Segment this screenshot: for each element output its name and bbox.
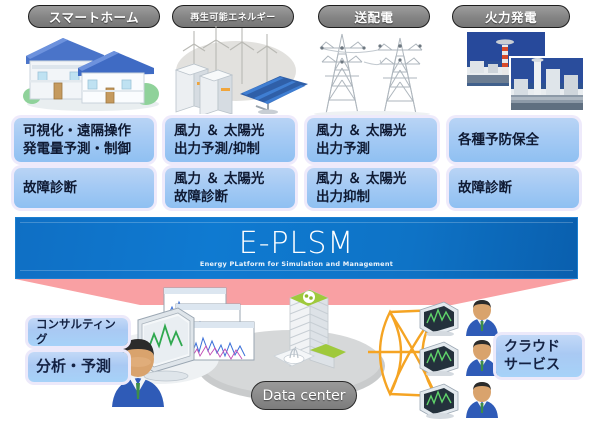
function-line: 故障診断 — [23, 179, 145, 197]
function-box-smart-home-2[interactable]: 故障診断 — [14, 168, 154, 208]
label-line: クラウド — [504, 338, 574, 356]
function-box-renewable-1[interactable]: 風力 ＆ 太陽光 出力予測/抑制 — [165, 118, 295, 162]
house-illustration-icon — [18, 28, 168, 113]
data-center-building-icon — [268, 280, 350, 380]
function-box-smart-home-1[interactable]: 可視化・遠隔操作 発電量予測・制御 — [14, 118, 154, 162]
label-cloud-service[interactable]: クラウド サービス — [496, 335, 582, 377]
category-pill-label: 再生可能エネルギー — [190, 10, 276, 23]
transmission-tower-illustration-icon — [312, 28, 442, 116]
category-pill-transmission[interactable]: 送配電 — [318, 5, 430, 28]
thermal-plant-photo-icon — [466, 31, 586, 113]
client-terminal-icon — [418, 336, 508, 376]
function-box-thermal-2[interactable]: 故障診断 — [449, 168, 579, 208]
eplsm-subtitle: Energy PLatform for Simulation and Manag… — [200, 260, 393, 268]
label-line: コンサルティング — [36, 317, 120, 347]
function-line: 出力抑制 — [316, 188, 428, 206]
function-line: 風力 ＆ 太陽光 — [316, 122, 428, 140]
function-line: 各種予防保全 — [458, 131, 570, 149]
category-pill-label: 送配電 — [354, 7, 393, 26]
category-pill-renewable-energy[interactable]: 再生可能エネルギー — [172, 5, 294, 28]
label-line: 分析・予測 — [36, 357, 120, 377]
client-terminal-icon — [418, 378, 508, 420]
function-line: 故障診断 — [458, 179, 570, 197]
data-center-pill[interactable]: Data center — [251, 381, 357, 410]
function-box-renewable-2[interactable]: 風力 ＆ 太陽光 故障診断 — [165, 168, 295, 208]
function-box-transmission-1[interactable]: 風力 ＆ 太陽光 出力予測 — [307, 118, 437, 162]
function-line: 風力 ＆ 太陽光 — [174, 122, 286, 140]
client-terminal-icon — [418, 296, 508, 336]
category-pill-label: スマートホーム — [49, 7, 139, 26]
diagram-canvas: スマートホーム 再生可能エネルギー 送配電 火力発電 — [0, 0, 600, 430]
function-line: 可視化・遠隔操作 — [23, 122, 145, 140]
wind-solar-illustration-icon — [168, 26, 308, 114]
function-box-transmission-2[interactable]: 風力 ＆ 太陽光 出力抑制 — [307, 168, 437, 208]
data-center-label: Data center — [263, 388, 346, 404]
category-pill-label: 火力発電 — [485, 7, 537, 26]
eplsm-title: E-PLSM — [239, 229, 355, 259]
label-analysis-forecast[interactable]: 分析・予測 — [28, 352, 128, 382]
function-line: 故障診断 — [174, 188, 286, 206]
label-consulting[interactable]: コンサルティング — [28, 318, 128, 346]
function-line: 風力 ＆ 太陽光 — [316, 170, 428, 188]
category-pill-thermal-power[interactable]: 火力発電 — [452, 5, 570, 28]
function-line: 出力予測/抑制 — [174, 140, 286, 158]
category-pill-smart-home[interactable]: スマートホーム — [28, 5, 160, 28]
function-line: 出力予測 — [316, 140, 428, 158]
function-line: 発電量予測・制御 — [23, 140, 145, 158]
function-box-thermal-1[interactable]: 各種予防保全 — [449, 118, 579, 162]
eplsm-banner: E-PLSM Energy PLatform for Simulation an… — [15, 217, 578, 279]
function-line: 風力 ＆ 太陽光 — [174, 170, 286, 188]
label-line: サービス — [504, 356, 574, 374]
